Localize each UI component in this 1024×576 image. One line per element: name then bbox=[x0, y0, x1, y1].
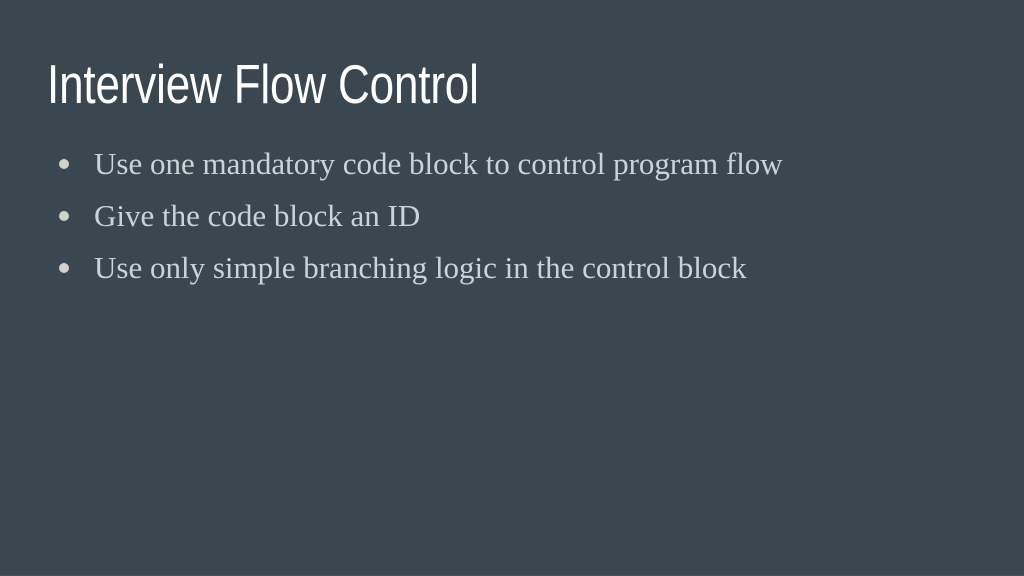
list-item-label: Use only simple branching logic in the c… bbox=[94, 250, 747, 285]
bullet-dot-icon bbox=[59, 159, 69, 169]
bullet-dot-icon bbox=[59, 211, 69, 221]
list-item: Give the code block an ID bbox=[47, 192, 987, 239]
list-item: Use only simple branching logic in the c… bbox=[47, 244, 987, 291]
slide-title: Interview Flow Control bbox=[47, 54, 479, 114]
presentation-slide: Interview Flow Control Use one mandatory… bbox=[0, 0, 1024, 576]
bullet-list: Use one mandatory code block to control … bbox=[47, 140, 987, 296]
list-item: Use one mandatory code block to control … bbox=[47, 140, 987, 187]
list-item-label: Use one mandatory code block to control … bbox=[94, 146, 783, 181]
list-item-label: Give the code block an ID bbox=[94, 198, 420, 233]
bullet-dot-icon bbox=[59, 263, 69, 273]
